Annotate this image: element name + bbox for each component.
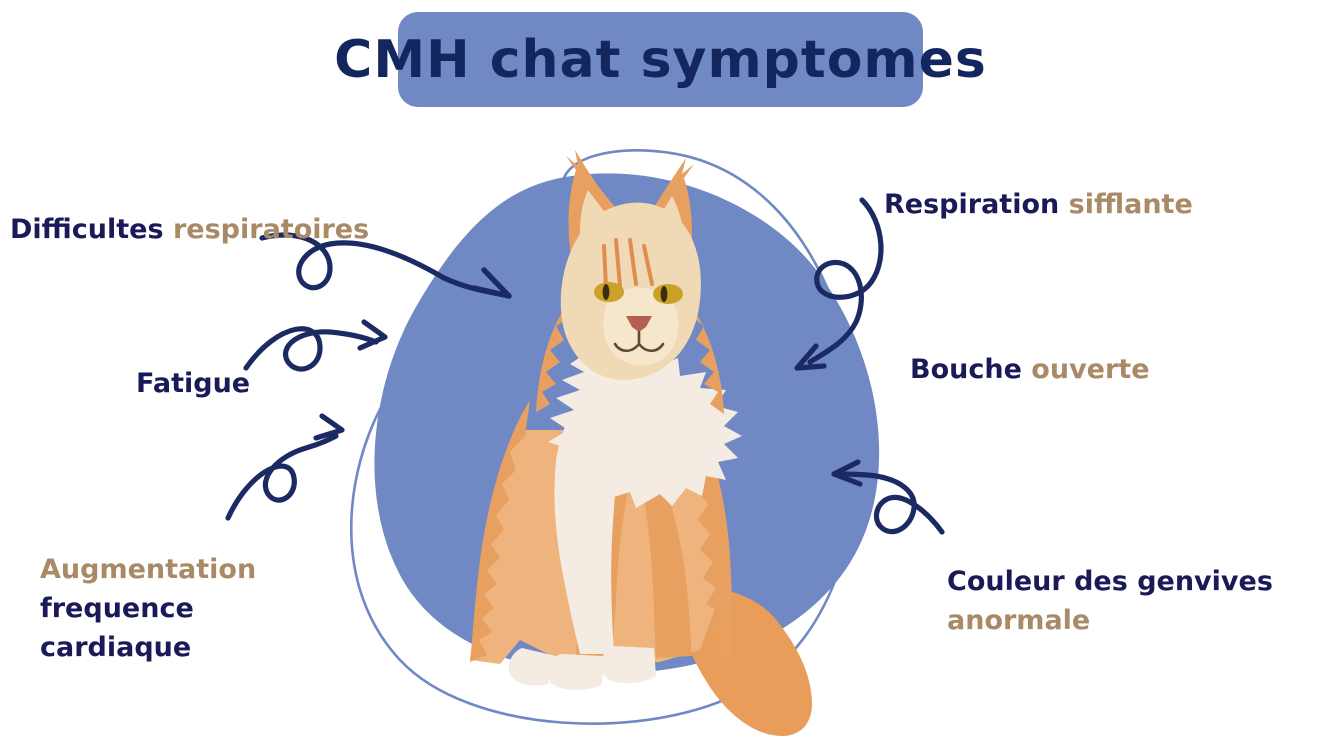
infographic-canvas: CMH chat symptomes Difficultes respirato… [0,0,1334,738]
cat-eye-right-pupil [661,286,668,302]
cat-paw-mid [548,654,604,690]
arrow-augmentation [228,416,342,518]
label-respiration-sifflante: Respiration sifflante [884,185,1193,224]
title-pill: CMH chat symptomes [398,12,923,107]
label-difficultes-respiratoires: Difficultes respiratoires [10,210,369,249]
label-augmentation-line3: cardiaque [40,628,256,667]
cat-paw-right [601,646,656,683]
label-bouche-part2: ouverte [1031,354,1149,385]
label-fatigue: Fatigue [136,364,250,403]
label-couleur-des-genvives-anormale: Couleur des genvives anormale [947,562,1273,640]
label-bouche-ouverte: Bouche ouverte [910,350,1150,389]
label-genvives-line1: Couleur des genvives [947,562,1273,601]
cat-eye-left-pupil [603,284,610,300]
label-respiration-part2: sifflante [1069,189,1193,220]
label-augmentation-frequence-cardiaque: Augmentation frequence cardiaque [40,550,256,667]
label-bouche-part1: Bouche [910,354,1022,385]
page-title: CMH chat symptomes [334,30,987,90]
label-fatigue-text: Fatigue [136,368,250,399]
arrow-fatigue [246,322,385,369]
label-difficultes-part1: Difficultes [10,214,164,245]
label-genvives-line2: anormale [947,601,1273,640]
label-respiration-part1: Respiration [884,189,1059,220]
label-augmentation-line1: Augmentation [40,550,256,589]
label-augmentation-line2: frequence [40,589,256,628]
label-difficultes-part2: respiratoires [173,214,369,245]
cat-eye-right [653,284,683,304]
